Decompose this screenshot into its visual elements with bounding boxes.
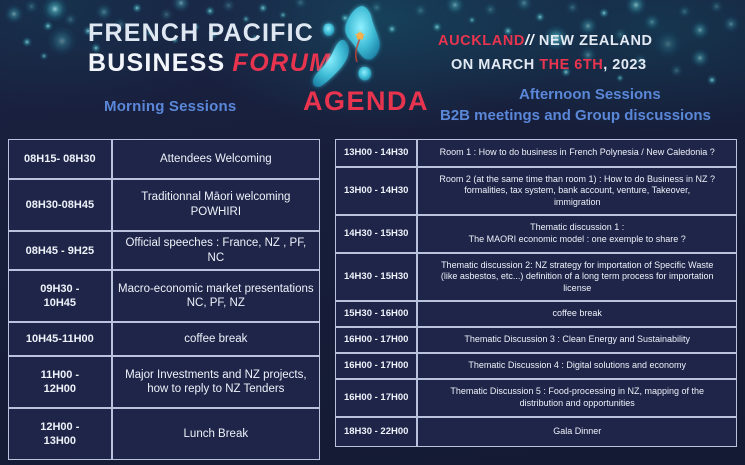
session-description: Attendees Welcoming [112, 139, 320, 179]
session-description: Lunch Break [112, 408, 320, 460]
session-description: Room 1 : How to do business in French Po… [417, 139, 737, 167]
event-date: ON MARCH THE 6TH, 2023 [451, 57, 647, 73]
session-description: Room 2 (at the same time than room 1) : … [417, 167, 737, 215]
new-zealand-map-icon [300, 2, 404, 94]
session-time: 13H00 - 14H30 [335, 167, 417, 215]
table-row: 09H30 -10H45Macro-economic market presen… [8, 270, 320, 322]
afternoon-sessions-body: 13H00 - 14H30Room 1 : How to do business… [335, 139, 737, 447]
table-row: 11H00 -12H00Major Investments and NZ pro… [8, 356, 320, 408]
table-row: 08H45 - 9H25Official speeches : France, … [8, 231, 320, 270]
event-date-year: , 2023 [603, 57, 646, 73]
afternoon-sessions-label: Afternoon Sessions [519, 86, 661, 103]
table-row: 16H00 - 17H00Thematic Discussion 4 : Dig… [335, 353, 737, 379]
session-time: 13H00 - 14H30 [335, 139, 417, 167]
session-time: 11H00 -12H00 [8, 356, 112, 408]
session-description: Gala Dinner [417, 417, 737, 447]
session-description: Thematic Discussion 3 : Clean Energy and… [417, 327, 737, 353]
table-row: 14H30 - 15H30Thematic discussion 1 :The … [335, 215, 737, 253]
session-time: 16H00 - 17H00 [335, 379, 417, 417]
session-time: 16H00 - 17H00 [335, 327, 417, 353]
event-title: FRENCH PACIFIC BUSINESSFORUM [88, 18, 332, 78]
session-description: Major Investments and NZ projects,how to… [112, 356, 320, 408]
table-row: 10H45-11H00coffee break [8, 322, 320, 356]
session-time: 10H45-11H00 [8, 322, 112, 356]
session-time: 08H15- 08H30 [8, 139, 112, 179]
table-row: 13H00 - 14H30Room 1 : How to do business… [335, 139, 737, 167]
poster-header: FRENCH PACIFIC BUSINESSFORUM Morning Ses… [0, 0, 745, 132]
event-title-line2: BUSINESSFORUM [88, 48, 332, 78]
table-row: 13H00 - 14H30Room 2 (at the same time th… [335, 167, 737, 215]
table-row: 12H00 -13H00Lunch Break [8, 408, 320, 460]
session-time: 14H30 - 15H30 [335, 253, 417, 301]
event-location: AUCKLAND// NEW ZEALAND [438, 33, 653, 49]
session-description: coffee break [112, 322, 320, 356]
session-description: Official speeches : France, NZ , PF, NC [112, 231, 320, 270]
session-description: Thematic Discussion 4 : Digital solution… [417, 353, 737, 379]
session-time: 14H30 - 15H30 [335, 215, 417, 253]
table-row: 15H30 - 16H00coffee break [335, 301, 737, 327]
session-description: Thematic discussion 2: NZ strategy for i… [417, 253, 737, 301]
morning-sessions-table: 08H15- 08H30Attendees Welcoming08H30-08H… [8, 139, 320, 460]
event-date-day: THE 6TH [539, 57, 603, 73]
session-description: Macro-economic market presentationsNC, P… [112, 270, 320, 322]
table-row: 18H30 - 22H00Gala Dinner [335, 417, 737, 447]
table-row: 16H00 - 17H00Thematic Discussion 3 : Cle… [335, 327, 737, 353]
session-time: 15H30 - 16H00 [335, 301, 417, 327]
session-time: 08H45 - 9H25 [8, 231, 112, 270]
session-time: 08H30-08H45 [8, 179, 112, 231]
session-description: coffee break [417, 301, 737, 327]
table-row: 08H30-08H45Traditionnal Māori welcomingP… [8, 179, 320, 231]
afternoon-sessions-table: 13H00 - 14H30Room 1 : How to do business… [335, 139, 737, 447]
session-time: 16H00 - 17H00 [335, 353, 417, 379]
afternoon-sessions-sublabel: B2B meetings and Group discussions [440, 107, 711, 124]
table-row: 14H30 - 15H30Thematic discussion 2: NZ s… [335, 253, 737, 301]
event-date-prefix: ON MARCH [451, 57, 535, 73]
event-location-country: NEW ZEALAND [539, 33, 653, 49]
table-row: 16H00 - 17H00Thematic Discussion 5 : Foo… [335, 379, 737, 417]
agenda-heading: AGENDA [303, 86, 429, 117]
agenda-poster: FRENCH PACIFIC BUSINESSFORUM Morning Ses… [0, 0, 745, 465]
event-title-line1: FRENCH PACIFIC [88, 18, 332, 48]
session-time: 18H30 - 22H00 [335, 417, 417, 447]
table-row: 08H15- 08H30Attendees Welcoming [8, 139, 320, 179]
event-location-city: AUCKLAND [438, 33, 525, 49]
event-title-business: BUSINESS [88, 49, 225, 77]
session-description: Traditionnal Māori welcomingPOWHIRI [112, 179, 320, 231]
session-time: 12H00 -13H00 [8, 408, 112, 460]
session-time: 09H30 -10H45 [8, 270, 112, 322]
session-description: Thematic Discussion 5 : Food-processing … [417, 379, 737, 417]
session-description: Thematic discussion 1 :The MAORI economi… [417, 215, 737, 253]
event-location-separator: // [525, 33, 534, 49]
morning-sessions-label: Morning Sessions [104, 98, 236, 115]
morning-sessions-body: 08H15- 08H30Attendees Welcoming08H30-08H… [8, 139, 320, 460]
